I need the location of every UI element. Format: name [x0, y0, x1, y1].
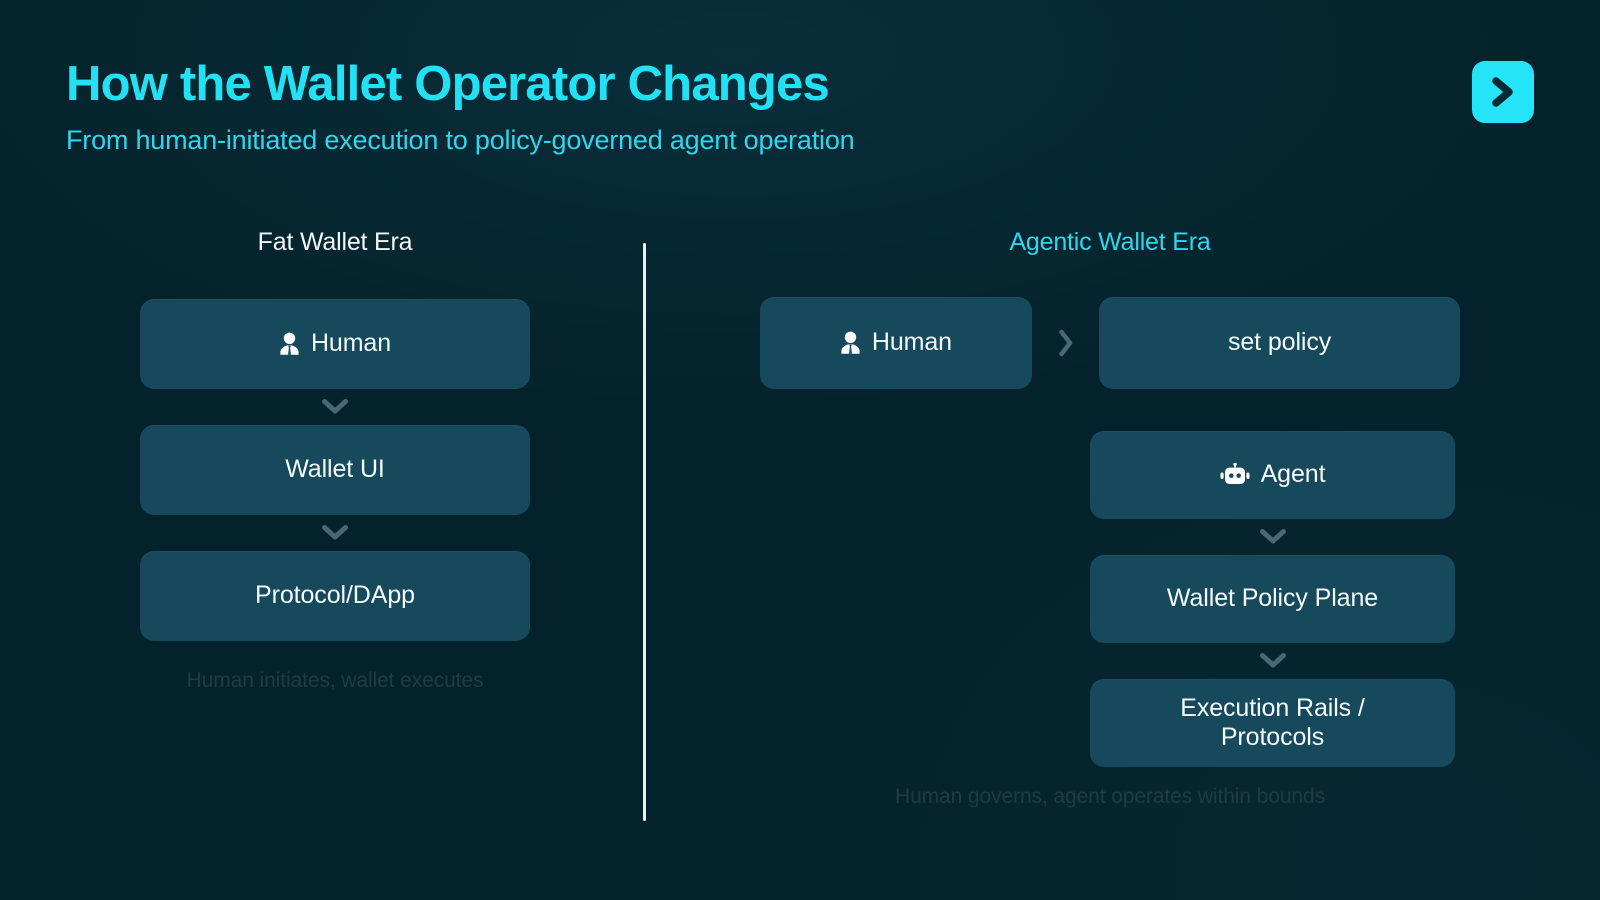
header: How the Wallet Operator Changes From hum… [66, 58, 1426, 156]
agent-pipeline-stack: Agent Wallet Policy Plane [1090, 389, 1455, 767]
connector-down-1 [140, 389, 530, 425]
person-icon [840, 331, 861, 355]
caption-fat-wallet-era: Human initiates, wallet executes [140, 669, 530, 693]
node-wallet-policy-plane[interactable]: Wallet Policy Plane [1090, 555, 1455, 643]
node-label: Execution Rails / Protocols [1180, 694, 1365, 753]
brand-badge-button[interactable] [1472, 61, 1534, 123]
node-label: Human [872, 328, 952, 358]
chevron-down-icon [322, 525, 348, 541]
connector-down-2-right [1090, 643, 1455, 679]
node-label: Wallet Policy Plane [1167, 584, 1378, 614]
top-row-human-to-policy: Human set policy [760, 297, 1460, 389]
column-heading-agentic-wallet-era: Agentic Wallet Era [760, 228, 1460, 257]
node-human-right[interactable]: Human [760, 297, 1032, 389]
connector-right [1032, 329, 1099, 357]
node-label: Human [311, 329, 391, 359]
diagram: Fat Wallet Era Human Wallet UI [0, 228, 1600, 868]
person-icon [279, 332, 300, 356]
connector-down-2 [140, 515, 530, 551]
connector-down-0-right [1090, 389, 1455, 431]
node-set-policy[interactable]: set policy [1099, 297, 1460, 389]
node-label: Wallet UI [285, 455, 385, 485]
chevron-right-icon [1058, 329, 1074, 357]
chevron-right-icon [1490, 77, 1516, 107]
node-human-left[interactable]: Human [140, 299, 530, 389]
connector-down-1-right [1090, 519, 1455, 555]
chevron-down-icon [1260, 529, 1286, 545]
column-divider [643, 243, 646, 821]
chevron-down-icon [322, 399, 348, 415]
page-subtitle: From human-initiated execution to policy… [66, 125, 1426, 156]
fat-wallet-era-column: Fat Wallet Era Human Wallet UI [140, 228, 530, 693]
node-wallet-ui[interactable]: Wallet UI [140, 425, 530, 515]
node-execution-rails-protocols[interactable]: Execution Rails / Protocols [1090, 679, 1455, 767]
node-label: Protocol/DApp [255, 581, 415, 611]
chevron-down-icon [1260, 653, 1286, 669]
page-title: How the Wallet Operator Changes [66, 58, 1426, 111]
node-label: set policy [1228, 328, 1331, 358]
caption-agentic-wallet-era: Human governs, agent operates within bou… [760, 785, 1460, 809]
node-agent[interactable]: Agent [1090, 431, 1455, 519]
chevron-down-icon [1272, 410, 1273, 411]
node-protocol-dapp[interactable]: Protocol/DApp [140, 551, 530, 641]
column-heading-fat-wallet-era: Fat Wallet Era [140, 228, 530, 257]
agentic-wallet-era-column: Agentic Wallet Era Human [760, 228, 1460, 809]
node-label: Agent [1261, 460, 1326, 490]
robot-icon [1220, 463, 1250, 487]
